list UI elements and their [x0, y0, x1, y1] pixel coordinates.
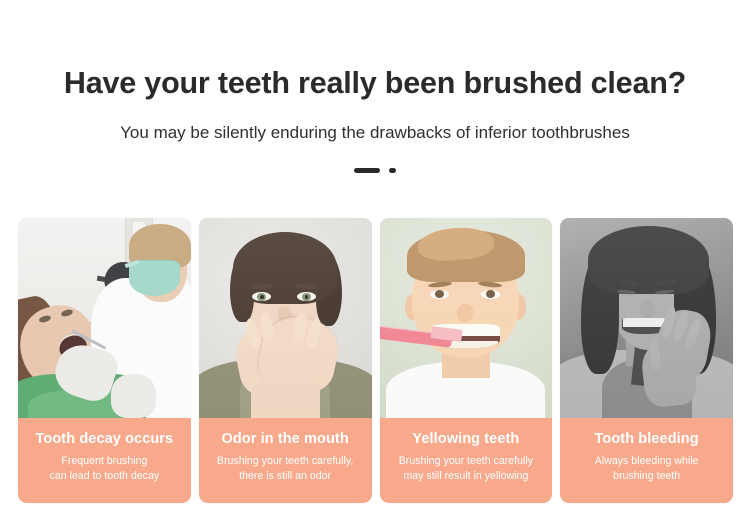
- card-body: Brushing your teeth carefully may still …: [380, 454, 553, 483]
- boy-brushing-teeth-photo: [380, 218, 553, 418]
- card-tooth-bleeding[interactable]: Tooth bleeding Always bleeding while bru…: [560, 218, 733, 503]
- dot-icon: [389, 168, 396, 173]
- card-body-line1: Always bleeding while: [564, 454, 729, 469]
- card-body-line2: brushing teeth: [564, 469, 729, 484]
- divider: [0, 164, 750, 176]
- card-body-line1: Brushing your teeth carefully,: [203, 454, 368, 469]
- card-tooth-decay[interactable]: Tooth decay occurs Frequent brushing can…: [18, 218, 191, 503]
- woman-tooth-pain-photo: [560, 218, 733, 418]
- card-body-line2: may still result in yellowing: [384, 469, 549, 484]
- card-title: Tooth bleeding: [560, 430, 733, 448]
- card-body-line1: Brushing your teeth carefully: [384, 454, 549, 469]
- dental-exam-photo: [18, 218, 191, 418]
- card-caption: Odor in the mouth Brushing your teeth ca…: [199, 418, 372, 503]
- card-body-line2: there is still an odor: [203, 469, 368, 484]
- page-title: Have your teeth really been brushed clea…: [0, 63, 750, 103]
- card-body-line2: can lead to tooth decay: [22, 469, 187, 484]
- card-title: Yellowing teeth: [380, 430, 553, 448]
- card-caption: Tooth bleeding Always bleeding while bru…: [560, 418, 733, 503]
- woman-covering-mouth-photo: [199, 218, 372, 418]
- page-subtitle: You may be silently enduring the drawbac…: [0, 121, 750, 145]
- card-body: Always bleeding while brushing teeth: [560, 454, 733, 483]
- dash-icon: [354, 168, 380, 173]
- card-mouth-odor[interactable]: Odor in the mouth Brushing your teeth ca…: [199, 218, 372, 503]
- card-body: Frequent brushing can lead to tooth deca…: [18, 454, 191, 483]
- card-row: Tooth decay occurs Frequent brushing can…: [18, 218, 733, 503]
- card-caption: Tooth decay occurs Frequent brushing can…: [18, 418, 191, 503]
- card-yellowing-teeth[interactable]: Yellowing teeth Brushing your teeth care…: [380, 218, 553, 503]
- card-body: Brushing your teeth carefully, there is …: [199, 454, 372, 483]
- promo-banner: Have your teeth really been brushed clea…: [0, 0, 750, 526]
- card-title: Tooth decay occurs: [18, 430, 191, 448]
- card-title: Odor in the mouth: [199, 430, 372, 448]
- card-body-line1: Frequent brushing: [22, 454, 187, 469]
- card-caption: Yellowing teeth Brushing your teeth care…: [380, 418, 553, 503]
